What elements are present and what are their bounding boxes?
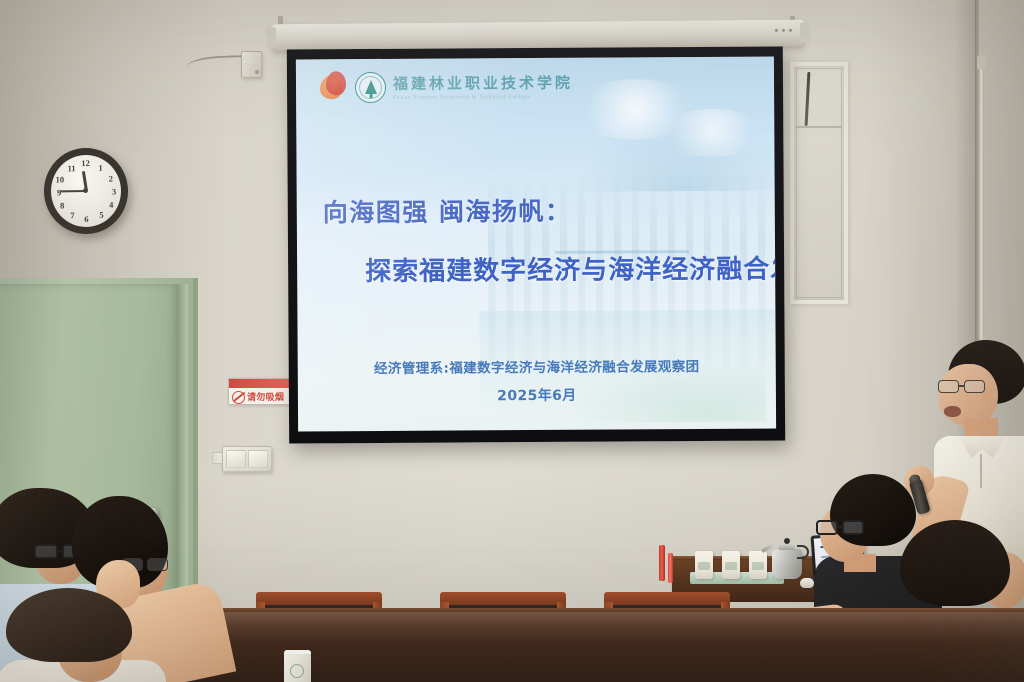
laptop-operator-glasses (816, 520, 866, 536)
clock-face: 12 1 2 3 4 5 6 7 8 9 10 11 (50, 154, 121, 227)
roller-label-dots (775, 29, 792, 32)
standing-presenter (930, 340, 1024, 550)
slide-title-line-1: 向海图强 闽海扬帆： (323, 192, 572, 230)
wall-pipe-cap (977, 55, 986, 69)
flame-emblem-icon (318, 71, 348, 103)
clock-numeral: 8 (57, 200, 67, 210)
tea-cup[interactable] (695, 551, 713, 579)
institution-name-cn: 福建林业职业技术学院 (393, 72, 573, 94)
paper-cup[interactable] (284, 650, 311, 682)
college-seal-icon (355, 71, 386, 102)
junction-box (241, 51, 262, 78)
clock-numeral: 6 (81, 214, 91, 224)
kettle-lid[interactable] (779, 543, 795, 550)
presenter-mouth (944, 406, 961, 417)
wall-switch-plate[interactable] (222, 446, 272, 472)
sign-body: 请勿吸烟 (229, 388, 290, 405)
clock-numeral: 11 (67, 163, 77, 173)
red-marker[interactable] (668, 553, 673, 583)
clock-numeral: 7 (67, 210, 77, 220)
cup-logo-icon (290, 664, 304, 678)
tea-cup[interactable] (722, 551, 740, 579)
slide-surface: 福建林业职业技术学院 Fujian Forestry Vocational & … (296, 57, 776, 432)
clock-numeral: 12 (80, 158, 90, 168)
screen-roller-housing[interactable] (272, 20, 804, 51)
front-right-hair (900, 520, 1010, 606)
clock-numeral: 1 (96, 163, 106, 173)
tea-cup[interactable] (749, 551, 767, 579)
attendee-c-hair (6, 588, 132, 662)
attendee-bowed-head (6, 588, 146, 682)
roller-end-right (800, 23, 810, 43)
slide-subtitle-line-2: 2025年6月 (298, 384, 776, 407)
clock-numeral: 5 (96, 210, 106, 220)
slide-subtitle-line-1: 经济管理系:福建数字经济与海洋经济融合发展观察团 (298, 355, 776, 378)
projection-screen[interactable]: 福建林业职业技术学院 Fujian Forestry Vocational & … (287, 46, 785, 443)
no-smoking-label: 请勿吸烟 (247, 392, 284, 403)
junction-screw (255, 70, 259, 74)
clock-numeral: 9 (54, 187, 64, 197)
clock-center-pin (83, 188, 88, 193)
slide-logo: 福建林业职业技术学院 Fujian Forestry Vocational & … (318, 70, 573, 104)
sign-header-bar (229, 379, 290, 388)
switch-rocker-left[interactable] (226, 450, 246, 468)
institution-name-en: Fujian Forestry Vocational & Technical C… (393, 94, 573, 101)
roller-end-left (266, 27, 276, 47)
kettle-knob[interactable] (784, 538, 790, 544)
presenter-placket (980, 454, 982, 488)
clock-numeral: 2 (106, 173, 116, 183)
red-marker[interactable] (659, 545, 665, 581)
presenter-glasses (938, 380, 992, 394)
clock-numeral: 4 (106, 199, 116, 209)
logo-text-group: 福建林业职业技术学院 Fujian Forestry Vocational & … (393, 72, 573, 101)
board-inner-edge (796, 68, 842, 298)
no-smoking-icon (232, 391, 245, 404)
board-divider (796, 126, 842, 128)
slide-title-line-2: 探索福建数字经济与海洋经济融合发展 (365, 248, 776, 288)
conference-room-scene: 12 1 2 3 4 5 6 7 8 9 10 11 请勿吸烟 (0, 0, 1024, 682)
clock-numeral: 3 (109, 186, 119, 196)
clock-numeral: 10 (55, 174, 65, 184)
switch-rocker-right[interactable] (248, 450, 268, 468)
wall-board-frame (790, 62, 848, 304)
no-smoking-sign: 请勿吸烟 (228, 378, 290, 405)
